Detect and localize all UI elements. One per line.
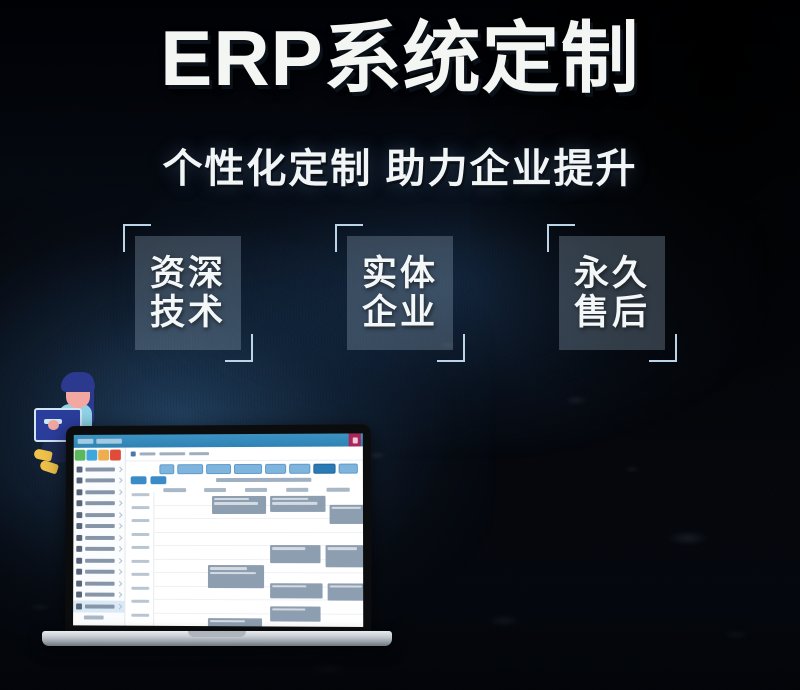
sidebar-item-icon — [76, 500, 82, 506]
sidebar-item-label — [85, 547, 115, 551]
sidebar-sub-item-1[interactable] — [73, 612, 124, 623]
laptop-mockup — [42, 425, 392, 665]
feature-badge: 资深 技术 — [135, 236, 241, 350]
schedule-event-block[interactable] — [208, 565, 264, 588]
sidebar-item-9[interactable] — [73, 555, 124, 567]
chevron-right-icon — [117, 581, 123, 587]
next-period-button[interactable] — [150, 476, 166, 484]
time-slot-label-4 — [128, 532, 154, 545]
toolbar-button-8[interactable] — [339, 464, 358, 474]
sidebar-item-icon — [76, 535, 82, 541]
schedule-event-label — [210, 567, 247, 570]
page-title: ERP系统定制 — [0, 18, 800, 100]
chevron-right-icon — [117, 569, 123, 575]
toolbar-button-4[interactable] — [234, 464, 262, 474]
sidebar-item-label — [85, 467, 115, 471]
laptop-base-notch — [188, 631, 246, 637]
sidebar-item-label — [85, 490, 115, 494]
time-slot-label-5 — [128, 545, 154, 558]
sidebar-item-icon — [76, 546, 82, 552]
breadcrumb-item-current — [189, 452, 209, 456]
schedule-event-block[interactable] — [208, 618, 262, 627]
schedule-event-label — [329, 585, 362, 588]
laptop-lid — [65, 424, 371, 634]
feature-badge-line-2: 技术 — [150, 293, 226, 332]
chevron-right-icon — [117, 489, 123, 495]
erp-time-axis — [127, 492, 153, 626]
schedule-event-block[interactable] — [271, 606, 321, 621]
erp-schedule-title — [216, 478, 311, 482]
corner-bracket-bottom-right-icon — [437, 334, 465, 362]
sidebar-sub-item-label — [84, 616, 103, 620]
erp-schedule-canvas[interactable] — [153, 491, 363, 627]
toolbar-button-6[interactable] — [289, 464, 310, 474]
sidebar-item-1[interactable] — [74, 463, 125, 475]
erp-application — [73, 433, 363, 627]
time-slot-label-9 — [127, 599, 153, 613]
erp-schedule-title-wrap — [170, 478, 358, 483]
time-slot-label-1 — [128, 492, 154, 505]
sidebar-item-icon — [76, 523, 82, 529]
feature-badge-line-2: 企业 — [362, 293, 438, 332]
time-slot-label-3 — [128, 518, 154, 531]
schedule-event-label — [273, 547, 305, 550]
sidebar-item-icon — [76, 603, 82, 609]
time-slot-text — [132, 506, 149, 509]
page-subtitle: 个性化定制 助力企业提升 — [0, 136, 800, 194]
sidebar-item-5[interactable] — [73, 509, 124, 520]
time-slot-text — [132, 600, 149, 603]
grid-row-line — [154, 532, 363, 533]
sidebar-item-3[interactable] — [74, 486, 125, 498]
sidebar-item-label — [85, 570, 115, 574]
chevron-right-icon — [117, 466, 123, 472]
schedule-event-label — [210, 572, 256, 575]
sidebar-item-icon — [76, 512, 82, 518]
breadcrumb-item-section[interactable] — [159, 452, 185, 456]
erp-sidebar-menu — [73, 462, 125, 625]
erp-sidebar — [73, 448, 126, 626]
sidebar-item-icon — [76, 558, 82, 564]
chevron-right-icon — [117, 592, 123, 598]
feature-badge-line-1: 永久 — [574, 254, 650, 293]
schedule-event-block[interactable] — [271, 545, 321, 563]
toolbar-button-1[interactable] — [159, 464, 174, 474]
schedule-event-label — [327, 547, 357, 550]
time-slot-text — [132, 586, 149, 589]
time-slot-text — [132, 533, 149, 536]
erp-quick-icon-row — [74, 448, 125, 463]
erp-quick-icon-1[interactable] — [75, 450, 86, 461]
sidebar-item-icon — [76, 580, 82, 586]
sidebar-sub-item-2[interactable] — [73, 623, 124, 626]
feature-badge-line-2: 售后 — [574, 293, 650, 332]
breadcrumb — [126, 446, 363, 461]
erp-schedule-grid — [125, 491, 363, 627]
sidebar-item-6[interactable] — [73, 521, 124, 532]
window-close-button[interactable] — [349, 433, 361, 446]
schedule-event-label — [331, 507, 361, 510]
time-slot-label-2 — [128, 505, 154, 518]
time-slot-text — [132, 546, 149, 549]
feature-badge: 永久 售后 — [559, 236, 665, 350]
chevron-right-icon — [117, 604, 123, 610]
schedule-event-label — [273, 585, 307, 588]
sidebar-item-icon — [77, 478, 83, 484]
toolbar-button-5[interactable] — [265, 464, 286, 474]
schedule-event-block[interactable] — [329, 505, 363, 524]
chevron-right-icon — [117, 478, 123, 484]
sidebar-item-11[interactable] — [73, 578, 124, 590]
erp-app-name — [96, 439, 122, 444]
time-slot-text — [132, 560, 149, 563]
sidebar-item-4[interactable] — [73, 498, 124, 509]
sidebar-item-label — [85, 559, 115, 563]
time-slot-label-8 — [127, 585, 153, 599]
sidebar-item-label — [85, 593, 115, 597]
sidebar-item-13[interactable] — [73, 600, 124, 612]
chevron-right-icon — [117, 501, 123, 507]
close-icon — [352, 437, 357, 443]
laptop-screen — [73, 433, 363, 627]
chevron-right-icon — [117, 558, 123, 564]
feature-badge: 实体 企业 — [347, 236, 453, 350]
time-slot-text — [132, 493, 149, 496]
time-slot-label-6 — [127, 559, 153, 572]
sidebar-item-2[interactable] — [74, 475, 125, 487]
feature-badge-box: 永久 售后 — [559, 236, 665, 350]
time-slot-text — [132, 573, 149, 576]
feature-badge-list: 资深 技术 实体 企业 永久 售后 — [0, 236, 800, 350]
sidebar-item-10[interactable] — [73, 566, 124, 578]
sidebar-item-icon — [76, 569, 82, 575]
schedule-event-label — [214, 497, 249, 500]
time-slot-text — [132, 519, 149, 522]
erp-promo-poster: ERP系统定制 个性化定制 助力企业提升 资深 技术 实体 企业 永久 售后 — [0, 0, 800, 690]
schedule-event-block[interactable] — [325, 545, 363, 567]
erp-app-logo — [78, 439, 94, 444]
corner-bracket-bottom-right-icon — [649, 334, 677, 362]
erp-title-bar-labels — [78, 439, 122, 444]
feature-badge-box: 实体 企业 — [347, 236, 453, 350]
time-slot-text — [132, 613, 149, 616]
sidebar-item-label — [85, 536, 115, 540]
chevron-right-icon — [117, 523, 123, 529]
prev-period-button[interactable] — [131, 476, 147, 484]
erp-sub-toolbar — [126, 476, 363, 487]
erp-quick-icon-2[interactable] — [86, 450, 97, 461]
schedule-event-label — [214, 502, 258, 505]
feature-badge-box: 资深 技术 — [135, 236, 241, 350]
home-icon[interactable] — [131, 451, 136, 456]
time-slot-label-10 — [127, 612, 153, 626]
time-slot-label-7 — [127, 572, 153, 585]
feature-badge-line-1: 实体 — [362, 254, 438, 293]
sidebar-item-label — [85, 501, 115, 505]
erp-body — [73, 446, 363, 627]
schedule-event-block[interactable] — [271, 583, 323, 598]
erp-main-panel — [125, 446, 363, 627]
sidebar-item-icon — [76, 489, 82, 495]
sidebar-item-label — [85, 513, 115, 517]
schedule-event-block[interactable] — [271, 495, 325, 511]
schedule-event-block[interactable] — [327, 583, 363, 601]
sidebar-item-12[interactable] — [73, 589, 124, 601]
sidebar-item-label — [85, 524, 115, 528]
person-hair-top — [61, 372, 95, 392]
erp-quick-icon-4[interactable] — [110, 450, 121, 461]
sidebar-item-icon — [77, 466, 83, 472]
sidebar-item-label — [85, 581, 115, 585]
toolbar-button-7[interactable] — [313, 464, 336, 474]
sidebar-item-label — [85, 479, 115, 483]
chevron-right-icon — [117, 546, 123, 552]
toolbar-button-3[interactable] — [207, 464, 231, 474]
schedule-event-label — [273, 497, 308, 500]
schedule-event-label — [273, 502, 317, 505]
sidebar-item-label — [85, 604, 115, 608]
grid-row-line — [154, 612, 363, 614]
corner-bracket-bottom-right-icon — [225, 334, 253, 362]
schedule-event-label — [210, 620, 245, 623]
sidebar-item-icon — [76, 592, 82, 598]
schedule-event-label — [273, 608, 305, 611]
schedule-event-block[interactable] — [212, 495, 266, 514]
erp-quick-icon-3[interactable] — [98, 450, 109, 461]
feature-badge-line-1: 资深 — [150, 254, 226, 293]
sidebar-item-8[interactable] — [73, 543, 124, 554]
chevron-right-icon — [117, 512, 123, 518]
chevron-right-icon — [117, 535, 123, 541]
toolbar-button-2[interactable] — [177, 464, 203, 474]
sidebar-item-7[interactable] — [73, 532, 124, 543]
breadcrumb-item-root[interactable] — [140, 452, 156, 456]
erp-toolbar — [126, 461, 363, 477]
